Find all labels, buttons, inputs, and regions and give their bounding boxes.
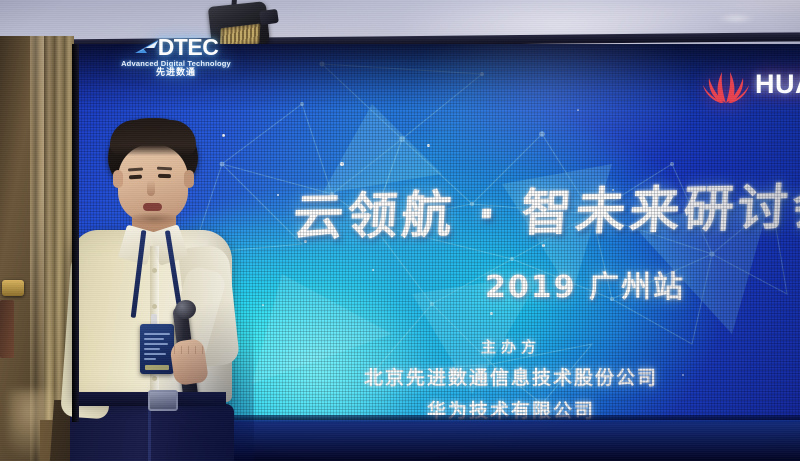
screen-bezel [72, 44, 79, 422]
presenter-fringe [110, 120, 196, 156]
presenter-eye-right [158, 174, 171, 178]
dtec-chinese-name: 先进数通 [120, 69, 232, 78]
conference-badge [140, 324, 174, 374]
presenter-mouth [143, 203, 162, 211]
badge-text-lines [144, 333, 170, 363]
dtec-wordmark: DTEC [158, 36, 219, 59]
huawei-wordmark: HUAWEI [755, 69, 800, 100]
trouser-seam [148, 408, 151, 461]
light-side-box [259, 9, 279, 25]
presenter-knuckles [174, 346, 204, 354]
ceiling-reflection [716, 14, 756, 23]
presenter-eye-left [129, 175, 142, 180]
door-strike-plate [0, 300, 14, 358]
presenter-chin-shadow [124, 212, 184, 226]
presenter-nose [147, 180, 155, 196]
dtec-wordmark-row: DTEC [120, 36, 232, 59]
shirt-button [152, 304, 157, 309]
huawei-flower-icon [702, 64, 750, 104]
door-handle-icon[interactable] [2, 280, 24, 296]
dtec-swoosh-icon [134, 39, 160, 56]
presenter-ear-right [184, 170, 194, 188]
conference-stage-photo: 云领航 · 智未来研讨会 2019 广州站 主办方 北京先进数通信息技术股份公司… [0, 0, 800, 461]
dtec-logo: DTEC Advanced Digital Technology 先进数通 [120, 36, 232, 82]
badge-footer-bar [145, 365, 169, 370]
shirt-button [152, 376, 157, 381]
dtec-tagline: Advanced Digital Technology [120, 60, 232, 68]
screen-sheen [402, 44, 702, 184]
presenter-ear-left [113, 170, 123, 188]
belt-buckle [148, 390, 178, 411]
shirt-button [152, 268, 157, 273]
huawei-logo: HUAWEI [702, 58, 800, 110]
